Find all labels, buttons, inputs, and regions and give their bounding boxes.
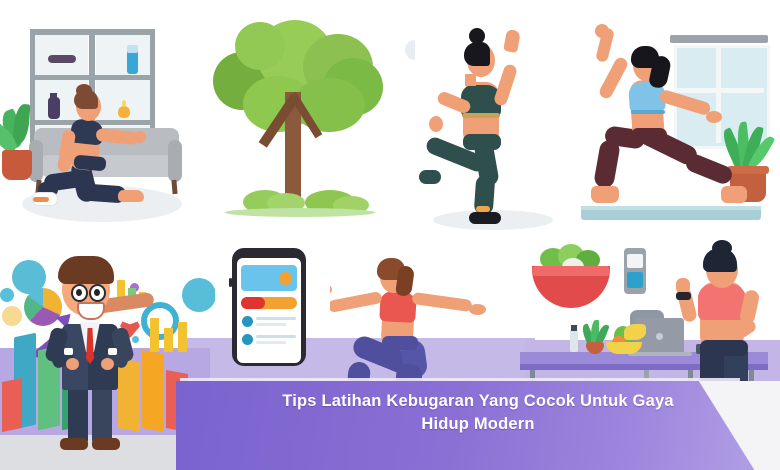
foot-front: [721, 186, 747, 203]
bottle-icon: [48, 97, 60, 119]
water-bottle: [570, 330, 578, 352]
illustration-canvas: Tips Latihan Kebugaran Yang Cocok Untuk …: [0, 0, 780, 470]
scene-fitness-app-phone: [218, 242, 323, 367]
waistband: [700, 340, 748, 356]
hand-extended: [706, 111, 722, 123]
arm-raised: [597, 56, 629, 101]
shoe-right: [92, 438, 120, 450]
waistband: [73, 155, 106, 172]
smartwatch-icon: [676, 292, 691, 300]
neck: [465, 74, 476, 86]
hand-left: [66, 358, 79, 370]
scene-living-room-lunge: [0, 0, 205, 240]
scene-standing-stretch: [415, 0, 575, 240]
laptop-base: [628, 352, 692, 356]
scene-warrior-pose: [575, 0, 780, 240]
waistband: [463, 134, 501, 150]
arm-left: [330, 291, 383, 313]
hair-bun: [469, 28, 485, 44]
curtain-rod: [670, 35, 768, 43]
sports-bra: [698, 284, 746, 320]
phone-notch: [256, 249, 282, 256]
ponytail: [395, 265, 415, 297]
waistband: [631, 128, 667, 143]
banana: [624, 324, 646, 340]
hair-bun: [76, 84, 92, 97]
candle-icon: [118, 106, 130, 118]
arm-raised: [493, 63, 518, 107]
shoe: [469, 212, 501, 224]
hair-bun: [712, 240, 732, 256]
banner-top-highlight: [180, 378, 740, 381]
phone-button[interactable]: [229, 278, 232, 287]
title-banner: Tips Latihan Kebugaran Yang Cocok Untuk …: [176, 381, 780, 470]
list-item-avatar: [242, 316, 253, 327]
dumbbell-icon: [48, 55, 76, 63]
progress-bar-fill: [241, 297, 265, 309]
hand-left: [330, 284, 332, 295]
hand-right: [101, 358, 114, 370]
candle-flame-icon: [122, 100, 126, 107]
hand-raised: [503, 29, 521, 53]
banner-corner-cut: [660, 381, 780, 470]
bottle-neck-icon: [50, 93, 57, 99]
waistband: [382, 336, 418, 350]
scene-outdoor-tree: [205, 0, 415, 240]
hand-raised: [595, 24, 609, 38]
hand: [133, 131, 146, 143]
list-item-avatar: [242, 334, 253, 345]
chart-bar-small: [150, 318, 159, 352]
bra-band: [462, 113, 500, 118]
sun-icon: [279, 272, 292, 285]
hair: [464, 42, 490, 66]
shoe-left: [60, 438, 88, 450]
decor-circle: [405, 40, 415, 60]
donut-chart: [141, 302, 179, 340]
decor-circle: [182, 278, 215, 312]
hand-back: [429, 116, 443, 132]
arm-right: [411, 292, 472, 312]
foot-front: [118, 190, 144, 202]
foot-back: [591, 186, 619, 203]
hand-right: [469, 304, 486, 315]
bottle-cap-icon: [127, 45, 138, 53]
mouth-smile: [77, 302, 105, 320]
sports-bra: [379, 291, 417, 323]
grass-ground: [225, 208, 375, 217]
hair: [58, 256, 114, 284]
pie-chart: [24, 288, 62, 326]
